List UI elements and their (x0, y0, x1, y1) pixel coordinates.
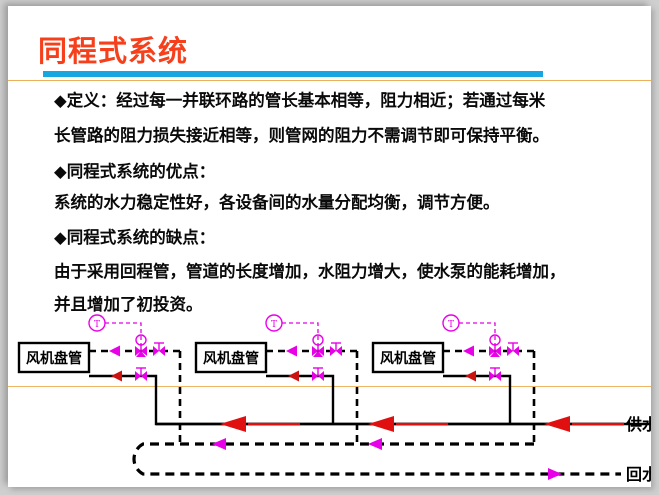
return-balancing-valve-2 (312, 368, 324, 381)
disadvantages-line-1-text: 由于采用回程管，管道的长度增加，水阻力增大，使水泵的能耗增加， (54, 262, 566, 281)
room-thermostat-icon-2: T (266, 315, 318, 346)
flow-arrow-supply-1 (109, 346, 120, 357)
bullet-diamond-icon: ◆ (54, 228, 67, 247)
supply-flow-arrow (544, 416, 624, 432)
flow-arrow-return-1 (111, 371, 122, 382)
definition-line-1-text: 定义：经过每一并联环路的管长基本相等，阻力相近；若通过每米 (67, 91, 546, 110)
supply-flow-arrow (368, 416, 448, 432)
fcu-label-1: 风机盘管 (26, 350, 82, 367)
fcu-box-1: 风机盘管 (19, 343, 89, 372)
thermostat-letter-2: T (271, 320, 277, 330)
advantages-body: 系统的水力稳定性好，各设备间的水量分配均衡，调节方便。 (54, 189, 500, 213)
disadvantages-heading-text: 同程式系统的缺点： (67, 228, 216, 247)
flow-arrow-return-3 (465, 371, 476, 382)
flow-arrow-supply-2 (286, 346, 297, 357)
supply-shutoff-valve-2 (330, 343, 342, 356)
flow-arrow-supply-3 (463, 346, 474, 357)
header-divider-rule (8, 80, 651, 81)
fcu-box-3: 风机盘管 (373, 343, 443, 372)
return-main-label: 回水 (626, 465, 651, 484)
supply-shutoff-valve-1 (153, 343, 165, 356)
supply-shutoff-valve-3 (507, 343, 519, 356)
room-thermostat-icon-1: T (89, 315, 141, 346)
reverse-return-piping-schematic: T 风机盘管 (8, 306, 651, 487)
supply-main-label: 供水 (625, 415, 651, 434)
return-flow-arrow (548, 468, 562, 480)
supply-flow-arrow (220, 416, 300, 432)
flow-arrow-return-2 (288, 371, 299, 382)
room-thermostat-icon-3: T (443, 315, 495, 346)
fcu-label-3: 风机盘管 (380, 350, 436, 367)
advantages-heading-text: 同程式系统的优点： (67, 162, 216, 181)
return-flow-arrow (212, 438, 226, 450)
bullet-diamond-icon: ◆ (54, 162, 67, 181)
disadvantages-line-1: 由于采用回程管，管道的长度增加，水阻力增大，使水泵的能耗增加， (54, 258, 566, 282)
advantages-heading: ◆同程式系统的优点： (54, 158, 215, 182)
thermostat-letter-1: T (94, 320, 100, 330)
return-balancing-valve-3 (489, 368, 501, 381)
page-title: 同程式系统 (38, 28, 188, 70)
return-flow-arrow (368, 438, 382, 450)
definition-line-2-text: 长管路的阻力损失接近相等，则管网的阻力不需调节即可保持平衡。 (54, 126, 549, 145)
slide-canvas: 同程式系统 ◆定义：经过每一并联环路的管长基本相等，阻力相近；若通过每米 长管路… (8, 6, 651, 487)
definition-line-2: 长管路的阻力损失接近相等，则管网的阻力不需调节即可保持平衡。 (54, 122, 549, 146)
thermostat-letter-3: T (448, 320, 454, 330)
definition-line-1: ◆定义：经过每一并联环路的管长基本相等，阻力相近；若通过每米 (54, 87, 545, 111)
fcu-label-2: 风机盘管 (203, 350, 259, 367)
title-underline-bar (43, 71, 543, 77)
return-main-pipe: 回水 (134, 438, 651, 484)
advantages-body-text: 系统的水力稳定性好，各设备间的水量分配均衡，调节方便。 (54, 193, 500, 212)
bullet-diamond-icon: ◆ (54, 91, 67, 110)
fcu-box-2: 风机盘管 (196, 343, 266, 372)
disadvantages-heading: ◆同程式系统的缺点： (54, 224, 215, 248)
return-balancing-valve-1 (135, 368, 147, 381)
supply-main-pipe: 供水 (156, 415, 651, 434)
